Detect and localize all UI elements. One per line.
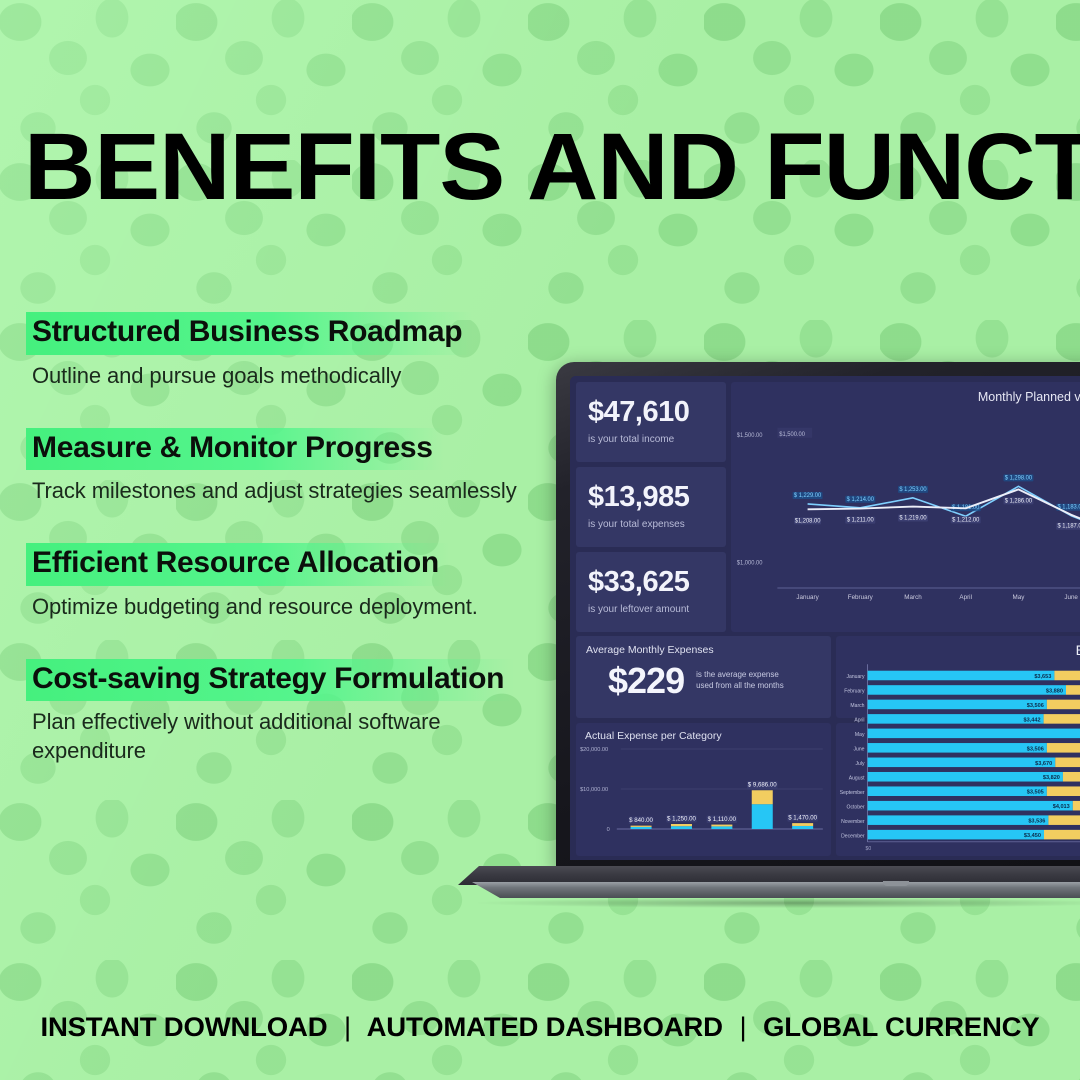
dashboard-bottom-row: Actual Expense per Category $20,000.00$1… <box>576 723 1080 856</box>
benefits-list: Structured Business Roadmap Outline and … <box>26 312 586 791</box>
benefit-sub-1: Outline and pursue goals methodically <box>26 362 531 390</box>
svg-text:April: April <box>959 594 972 601</box>
category-chart-svg: $20,000.00$10,000.000$ 840.00$ 1,250.00$… <box>576 741 831 841</box>
svg-text:$ 9,686.00: $ 9,686.00 <box>748 783 778 789</box>
category-chart-panel: Actual Expense per Category $20,000.00$1… <box>576 723 831 856</box>
benefit-sub-3: Optimize budgeting and resource deployme… <box>26 593 531 621</box>
dashboard-top-row: $47,610 is your total income $13,985 is … <box>576 382 1080 632</box>
footer-bar: INSTANT DOWNLOAD | AUTOMATED DASHBOARD |… <box>0 1012 1080 1043</box>
benefit-heading-1: Structured Business Roadmap <box>26 312 472 355</box>
hbar-chart-body-panel <box>836 723 1080 856</box>
laptop-lid: $47,610 is your total income $13,985 is … <box>556 362 1080 870</box>
svg-text:$1,500.00: $1,500.00 <box>737 433 763 439</box>
svg-text:$1,500.00: $1,500.00 <box>779 432 805 438</box>
benefit-heading-2: Measure & Monitor Progress <box>26 428 443 471</box>
svg-text:$ 1,298.00: $ 1,298.00 <box>1005 475 1033 481</box>
laptop-base <box>458 866 1080 904</box>
benefit-item-1: Structured Business Roadmap Outline and … <box>26 312 586 390</box>
page-title: BENEFITS AND FUNCTIONS <box>24 120 1080 215</box>
footer-item-2: AUTOMATED DASHBOARD <box>367 1012 723 1042</box>
kpi-value-expenses: $13,985 <box>588 481 726 514</box>
kpi-label-income: is your total income <box>588 434 726 445</box>
kpi-value-leftover: $33,625 <box>588 566 726 599</box>
svg-text:$ 1,110.00: $ 1,110.00 <box>708 817 737 823</box>
kpi-card-leftover: $33,625 is your leftover amount <box>576 552 726 632</box>
svg-text:$ 1,212.00: $ 1,212.00 <box>952 517 980 523</box>
benefit-sub-2: Track milestones and adjust strategies s… <box>26 477 531 505</box>
svg-text:$ 840.00: $ 840.00 <box>629 818 653 824</box>
benefit-sub-4: Plan effectively without additional soft… <box>26 708 531 764</box>
kpi-value-income: $47,610 <box>588 396 726 429</box>
line-chart-title: Monthly Planned vs. Actual Ex <box>978 390 1080 404</box>
kpi-column: $47,610 is your total income $13,985 is … <box>576 382 726 632</box>
benefit-item-4: Cost-saving Strategy Formulation Plan ef… <box>26 659 586 765</box>
svg-text:$ 1,211.00: $ 1,211.00 <box>847 518 875 524</box>
kpi-label-leftover: is your leftover amount <box>588 604 726 615</box>
svg-text:$ 1,187.00: $ 1,187.00 <box>1057 524 1080 530</box>
laptop-screen: $47,610 is your total income $13,985 is … <box>570 376 1080 860</box>
line-chart-svg: $1,500.00$1,000.00$1,500.00$ 1,229.00$ 1… <box>731 404 1080 614</box>
average-expense-card: Average Monthly Expenses $229 is the ave… <box>576 636 831 718</box>
footer-item-1: INSTANT DOWNLOAD <box>41 1012 328 1042</box>
footer-item-3: GLOBAL CURRENCY <box>763 1012 1039 1042</box>
svg-text:$ 1,214.00: $ 1,214.00 <box>847 497 875 503</box>
benefit-heading-4: Cost-saving Strategy Formulation <box>26 659 514 702</box>
svg-text:$ 1,229.00: $ 1,229.00 <box>794 493 822 499</box>
laptop-base-edge <box>458 882 1080 898</box>
hbar-chart-title: Expense vs <box>1076 642 1080 658</box>
average-card-row: $229 is the average expense used from al… <box>586 660 821 702</box>
svg-text:$1,208.00: $1,208.00 <box>795 518 821 524</box>
svg-text:0: 0 <box>607 827 610 833</box>
average-card-title: Average Monthly Expenses <box>586 644 821 656</box>
svg-text:May: May <box>1013 594 1026 601</box>
benefit-heading-3: Efficient Resource Allocation <box>26 543 449 586</box>
svg-text:$1,000.00: $1,000.00 <box>737 560 763 566</box>
kpi-card-expenses: $13,985 is your total expenses <box>576 467 726 547</box>
svg-text:$ 1,250.00: $ 1,250.00 <box>667 817 697 823</box>
benefit-item-2: Measure & Monitor Progress Track milesto… <box>26 428 586 506</box>
svg-text:$ 1,286.00: $ 1,286.00 <box>1005 498 1033 504</box>
average-card-note: is the average expense used from all the… <box>696 670 791 692</box>
svg-text:June: June <box>1064 594 1078 601</box>
kpi-card-income: $47,610 is your total income <box>576 382 726 462</box>
svg-text:January: January <box>796 594 819 601</box>
svg-text:$ 1,253.00: $ 1,253.00 <box>899 487 927 493</box>
svg-text:$ 1,470.00: $ 1,470.00 <box>788 816 818 822</box>
kpi-label-expenses: is your total expenses <box>588 519 726 530</box>
laptop-base-notch <box>883 881 909 886</box>
dashboard-middle-row: Average Monthly Expenses $229 is the ave… <box>576 636 1080 718</box>
hbar-chart-header-panel: Expense vs <box>836 636 1080 718</box>
svg-text:February: February <box>848 594 874 601</box>
budget-dashboard: $47,610 is your total income $13,985 is … <box>570 376 1080 860</box>
svg-text:$ 1,219.00: $ 1,219.00 <box>899 515 927 521</box>
footer-sep-2: | <box>730 1012 755 1042</box>
laptop-drop-shadow <box>478 898 1080 908</box>
footer-sep-1: | <box>335 1012 360 1042</box>
benefit-item-3: Efficient Resource Allocation Optimize b… <box>26 543 586 621</box>
laptop-mockup: $47,610 is your total income $13,985 is … <box>556 362 1080 907</box>
svg-text:March: March <box>904 594 922 601</box>
line-chart-panel: Monthly Planned vs. Actual Ex $1,500.00$… <box>731 382 1080 632</box>
average-card-value: $229 <box>586 660 684 702</box>
